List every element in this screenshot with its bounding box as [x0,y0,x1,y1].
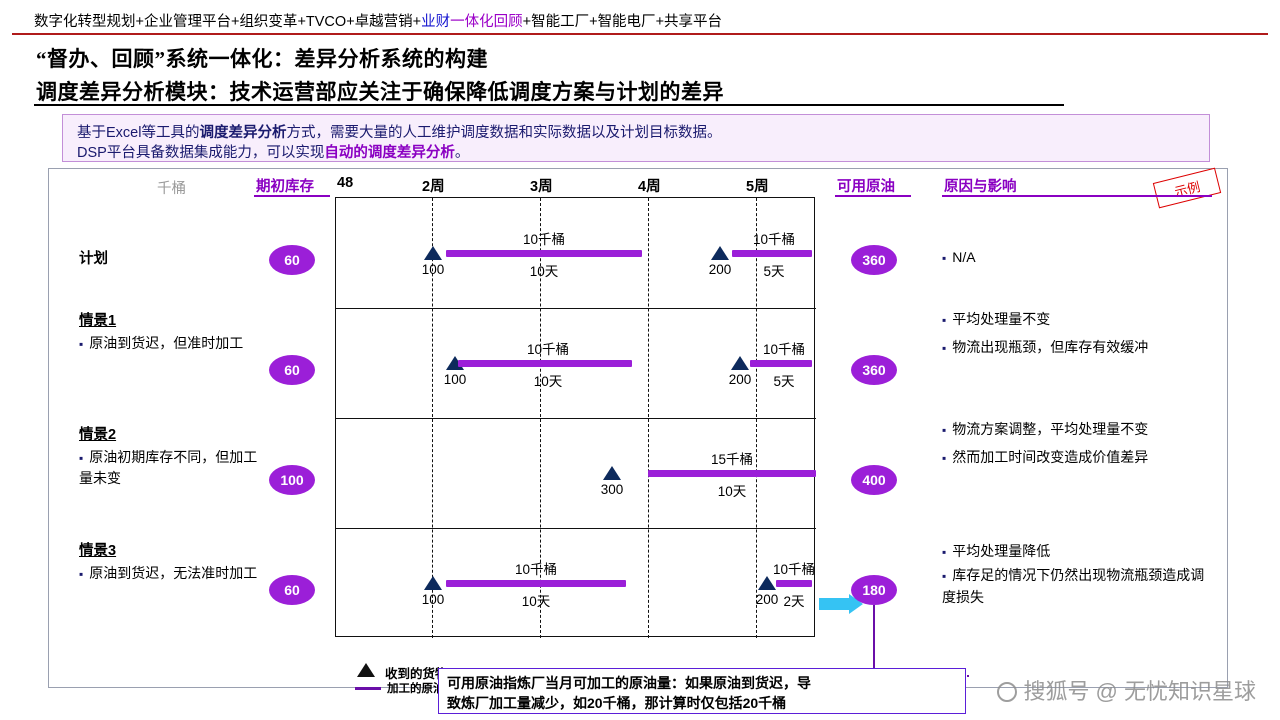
title-underline [34,104,1064,106]
example-stamp: 示例 [1153,168,1221,209]
arrival-marker [731,356,749,370]
arrival-marker [424,576,442,590]
row-label-plan: 计划 [79,247,108,268]
watermark-text: 搜狐号 @ 无忧知识星球 [1023,679,1256,704]
note-text: DSP平台具备数据集成能力，可以实现 [77,145,324,161]
arrival-marker-value: 100 [422,262,445,277]
arrival-marker-value: 100 [422,592,445,607]
arrival-marker [603,466,621,480]
cause-item: N/A [942,247,1212,269]
process-bar-label: 10千桶 [527,338,569,358]
page-title: “督办、回顾”系统一体化：差异分析系统的构建 [36,43,488,73]
arrival-marker [758,576,776,590]
watermark-logo-icon [997,682,1017,702]
opening-stock-value: 60 [269,355,315,385]
opening-stock-value: 60 [269,245,315,275]
opening-stock-value: 60 [269,575,315,605]
gantt-plot-area: 100 10千桶 10天 200 10千桶 5天 100 10千桶 10天 20… [335,197,815,637]
breadcrumb-part: TVCO [306,14,346,30]
breadcrumb-part: 智能电厂 [598,14,656,30]
arrival-marker [424,246,442,260]
breadcrumb-sep: + [136,14,144,30]
note-text-highlight: 自动的调度差异分析 [324,145,455,161]
diagram-frame: 示例 千桶 期初库存 48 2周 3周 4周 5周 可用原油 原因与影响 100… [48,168,1228,688]
breadcrumb-part: 企业管理平台 [144,14,231,30]
breadcrumb-part: 卓越营销 [355,14,413,30]
arrival-marker [711,246,729,260]
header-causes-underline [942,195,1212,197]
available-crude-value: 360 [851,245,897,275]
breadcrumb-part: 共享平台 [664,14,722,30]
note-text: 。 [455,145,470,161]
definition-box: 可用原油指炼厂当月可加工的原油量：如果原油到货迟，导 致炼厂加工量减少，如20千… [438,668,966,714]
legend-processed-icon [355,687,381,690]
cause-item: 平均处理量不变 [942,309,1212,331]
header-week5: 5周 [746,175,769,196]
breadcrumb: 数字化转型规划+企业管理平台+组织变革+TVCO+卓越营销+业财一体化回顾+智能… [34,10,1034,31]
header-available-crude: 可用原油 [837,175,895,196]
arrival-marker-value: 200 [709,262,732,277]
process-bar-duration: 5天 [773,370,794,390]
row-desc-scenario1: 原油到货迟，但准时加工 [79,333,259,354]
arrival-marker-value: 100 [444,372,467,387]
legend-processed-label: 加工的原油 [387,680,445,696]
header-week2: 2周 [422,175,445,196]
definition-line-2: 致炼厂加工量减少，如20千桶，那计算时仅包括20千桶 [447,693,786,713]
watermark: 搜狐号 @ 无忧知识星球 [997,674,1256,706]
process-bar-label: 10千桶 [773,558,815,578]
page-subtitle: 调度差异分析模块：技术运营部应关注于确保降低调度方案与计划的差异 [36,76,724,106]
breadcrumb-part-active2: 一体化回顾 [450,14,523,30]
header-week0: 48 [337,175,353,191]
process-bar-duration: 10天 [718,480,747,500]
available-crude-value: 360 [851,355,897,385]
process-bar-duration: 5天 [763,260,784,280]
cause-item: 平均处理量降低 [942,541,1212,563]
breadcrumb-part-active: 业财 [421,14,450,30]
row-separator-2 [336,418,816,419]
process-bar-label: 10千桶 [763,338,805,358]
process-bar-label: 10千桶 [753,228,795,248]
header-causes: 原因与影响 [944,175,1017,196]
arrival-marker-value: 300 [601,482,624,497]
cause-item: 物流出现瓶颈，但库存有效缓冲 [942,337,1212,359]
available-crude-value: 180 [851,575,897,605]
flow-arrow-body [819,598,849,610]
header-week4: 4周 [638,175,661,196]
definition-line-1: 可用原油指炼厂当月可加工的原油量：如果原油到货迟，导 [447,673,811,693]
breadcrumb-sep: + [413,14,421,30]
note-box: 基于Excel等工具的调度差异分析方式，需要大量的人工维护调度数据和实际数据以及… [62,114,1210,162]
arrival-marker-value: 200 [756,592,779,607]
note-line-1: 基于Excel等工具的调度差异分析方式，需要大量的人工维护调度数据和实际数据以及… [77,121,721,142]
cause-item: 然而加工时间改变造成价值差异 [942,447,1212,469]
process-bar [458,360,632,367]
header-unit: 千桶 [157,177,186,198]
process-bar-label: 10千桶 [515,558,557,578]
row-separator-1 [336,308,816,309]
note-text-bold: 调度差异分析 [199,125,286,141]
causes-cell: 平均处理量不变 物流出现瓶颈，但库存有效缓冲 [942,309,1212,359]
row-label-scenario2: 情景2 [79,423,116,444]
breadcrumb-part: 数字化转型规划 [34,14,136,30]
available-crude-value: 400 [851,465,897,495]
breadcrumb-sep: + [523,14,531,30]
legend-arrival-icon [357,663,375,677]
breadcrumb-part: 组织变革 [239,14,297,30]
note-text: 方式，需要大量的人工维护调度数据和实际数据以及计划目标数据。 [286,125,721,141]
process-bar [446,580,626,587]
row-separator-3 [336,528,816,529]
process-bar-duration: 10天 [530,260,559,280]
causes-cell: 平均处理量降低 库存足的情况下仍然出现物流瓶颈造成调度损失 [942,541,1212,608]
breadcrumb-sep: + [297,14,305,30]
process-bar-duration: 2天 [783,590,804,610]
process-bar [776,580,812,587]
header-week3: 3周 [530,175,553,196]
cause-item: 物流方案调整，平均处理量不变 [942,419,1212,441]
definition-connector-vertical [873,605,875,677]
breadcrumb-divider [12,33,1268,35]
process-bar-duration: 10天 [534,370,563,390]
row-label-scenario3: 情景3 [79,539,116,560]
row-label-scenario1: 情景1 [79,309,116,330]
note-line-2: DSP平台具备数据集成能力，可以实现自动的调度差异分析。 [77,141,469,162]
row-desc-scenario2: 原油初期库存不同，但加工量未变 [79,447,259,488]
opening-stock-value: 100 [269,465,315,495]
process-bar [648,470,816,477]
row-desc-scenario3: 原油到货迟，无法准时加工 [79,563,259,584]
breadcrumb-sep: + [346,14,354,30]
note-text: 基于Excel等工具的 [77,125,199,141]
process-bar [732,250,812,257]
header-opening-stock-underline [254,195,330,197]
process-bar [446,250,642,257]
process-bar-label: 10千桶 [523,228,565,248]
header-available-crude-underline [835,195,911,197]
process-bar-label: 15千桶 [711,448,753,468]
breadcrumb-part: 智能工厂 [531,14,589,30]
header-opening-stock: 期初库存 [256,175,314,196]
causes-cell: 物流方案调整，平均处理量不变 然而加工时间改变造成价值差异 [942,419,1212,469]
arrival-marker-value: 200 [729,372,752,387]
breadcrumb-sep: + [589,14,597,30]
breadcrumb-sep: + [656,14,664,30]
cause-item: 库存足的情况下仍然出现物流瓶颈造成调度损失 [942,565,1212,608]
definition-connector-dot [967,675,969,677]
process-bar-duration: 10天 [522,590,551,610]
process-bar [750,360,812,367]
causes-cell: N/A [942,247,1212,269]
